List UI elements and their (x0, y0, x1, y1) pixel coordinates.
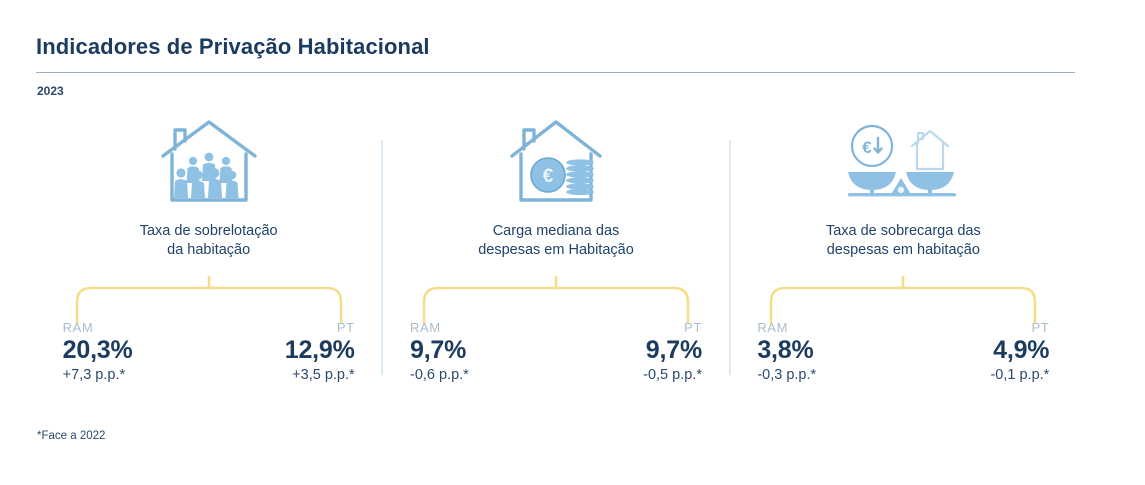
stat-delta: +7,3 p.p.* (63, 367, 125, 383)
reference-year: 2023 (37, 84, 64, 98)
stat-ram: RAM 9,7% -0,6 p.p.* (406, 320, 530, 383)
svg-text:€: € (863, 138, 873, 157)
stats-zone: RAM 3,8% -0,3 p.p.* PT 4,9% -0,1 p.p.* (753, 276, 1053, 396)
title-divider-rule (36, 72, 1075, 73)
stat-value: 3,8% (757, 336, 813, 364)
stats-row: RAM 20,3% +7,3 p.p.* PT 12,9% +3,5 p.p.* (59, 320, 359, 383)
stat-value: 20,3% (63, 336, 133, 364)
stats-row: RAM 3,8% -0,3 p.p.* PT 4,9% -0,1 p.p.* (753, 320, 1053, 383)
stats-row: RAM 9,7% -0,6 p.p.* PT 9,7% -0,5 p.p.* (406, 320, 706, 383)
indicator-label: Taxa de sobrecarga das despesas em habit… (826, 222, 981, 260)
stat-pt: PT 4,9% -0,1 p.p.* (929, 320, 1053, 383)
bracket-connector (59, 276, 359, 324)
indicator-panel-median-burden: € Carga mediana das despesas em Habitaçã… (383, 110, 728, 400)
stat-pt: PT 12,9% +3,5 p.p.* (235, 320, 359, 383)
stat-region-label: PT (337, 320, 355, 335)
house-with-people-icon (157, 114, 261, 210)
stat-ram: RAM 20,3% +7,3 p.p.* (59, 320, 183, 383)
indicator-label: Carga mediana das despesas em Habitação (478, 222, 634, 260)
stat-region-label: RAM (63, 320, 94, 335)
stat-delta: -0,3 p.p.* (757, 367, 816, 383)
stat-region-label: RAM (757, 320, 788, 335)
indicator-panels: Taxa de sobrelotação da habitação RAM 20… (36, 110, 1076, 400)
svg-text:€: € (543, 166, 554, 187)
house-with-coins-icon: € (504, 114, 608, 210)
stat-pt: PT 9,7% -0,5 p.p.* (582, 320, 706, 383)
stat-delta: -0,6 p.p.* (410, 367, 469, 383)
page-title: Indicadores de Privação Habitacional (36, 34, 430, 60)
stats-zone: RAM 9,7% -0,6 p.p.* PT 9,7% -0,5 p.p.* (406, 276, 706, 396)
stat-value: 4,9% (993, 336, 1049, 364)
indicator-label: Taxa de sobrelotação da habitação (140, 222, 278, 260)
stat-delta: -0,1 p.p.* (990, 367, 1049, 383)
footnote: *Face a 2022 (37, 430, 105, 442)
indicator-label-line2: da habitação (140, 241, 278, 260)
bracket-connector (753, 276, 1053, 324)
stat-value: 9,7% (646, 336, 702, 364)
stats-zone: RAM 20,3% +7,3 p.p.* PT 12,9% +3,5 p.p.* (59, 276, 359, 396)
indicator-label-line1: Taxa de sobrecarga das (826, 222, 981, 241)
infographic-page: Indicadores de Privação Habitacional 202… (0, 0, 1145, 485)
stat-ram: RAM 3,8% -0,3 p.p.* (753, 320, 877, 383)
stat-value: 9,7% (410, 336, 466, 364)
indicator-label-line2: despesas em Habitação (478, 241, 634, 260)
indicator-panel-overburden: € Taxa de sobrecarga das despesas em hab (731, 110, 1076, 400)
balance-scale-euro-house-icon: € (840, 114, 966, 210)
stat-region-label: RAM (410, 320, 441, 335)
stat-delta: -0,5 p.p.* (643, 367, 702, 383)
indicator-panel-overcrowding: Taxa de sobrelotação da habitação RAM 20… (36, 110, 381, 400)
stat-value: 12,9% (285, 336, 355, 364)
indicator-label-line1: Carga mediana das (478, 222, 634, 241)
stat-region-label: PT (684, 320, 702, 335)
stat-delta: +3,5 p.p.* (292, 367, 354, 383)
indicator-label-line2: despesas em habitação (826, 241, 981, 260)
bracket-connector (406, 276, 706, 324)
indicator-label-line1: Taxa de sobrelotação (140, 222, 278, 241)
stat-region-label: PT (1032, 320, 1050, 335)
